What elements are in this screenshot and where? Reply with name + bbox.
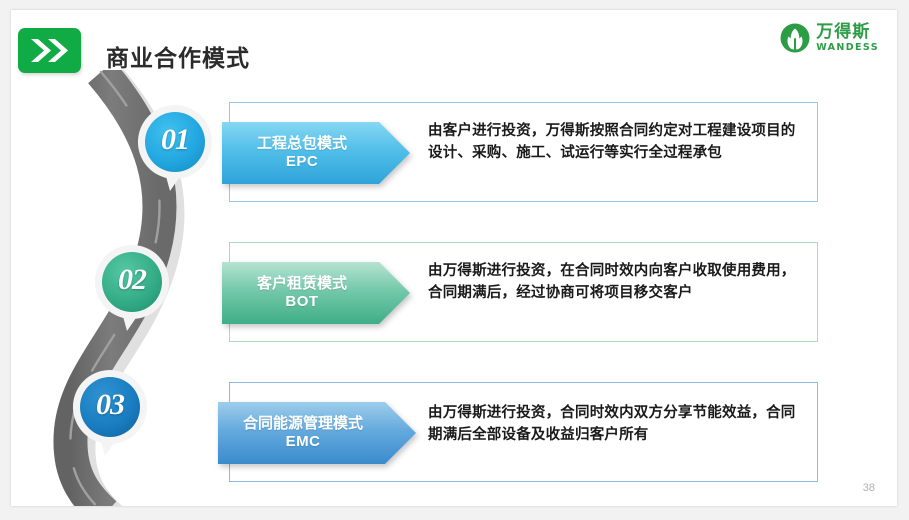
step-ribbon-02[interactable]: 客户租赁模式 BOT [222, 262, 410, 324]
brand-logo: 万得斯 WANDESS [780, 22, 879, 54]
step-ribbon-03[interactable]: 合同能源管理模式 EMC [218, 402, 416, 464]
brand-name-cn: 万得斯 [816, 24, 879, 41]
slide-canvas: 商业合作模式 万得斯 WANDESS [11, 10, 897, 506]
step-pin-01[interactable]: 01 [136, 103, 214, 195]
brand-text-wrap: 万得斯 WANDESS [816, 24, 879, 53]
page-number: 38 [863, 482, 875, 494]
step-pin-02[interactable]: 02 [93, 243, 171, 335]
plant-sprout-logo-icon [780, 22, 810, 54]
step-ribbon-01[interactable]: 工程总包模式 EPC [222, 122, 410, 184]
step-description-01: 由客户进行投资，万得斯按照合同约定对工程建设项目的设计、采购、施工、试运行等实行… [428, 120, 803, 165]
step-pin-03[interactable]: 03 [71, 368, 149, 460]
double-chevron-right-icon [18, 28, 81, 73]
step-description-03: 由万得斯进行投资，合同时效内双方分享节能效益，合同期满后全部设备及收益归客户所有 [428, 402, 803, 447]
slide-frame: 商业合作模式 万得斯 WANDESS [0, 0, 909, 520]
brand-name-en: WANDESS [816, 43, 879, 53]
step-description-02: 由万得斯进行投资，在合同时效内向客户收取使用费用，合同期满后，经过协商可将项目移… [428, 260, 803, 305]
page-title: 商业合作模式 [106, 39, 250, 73]
